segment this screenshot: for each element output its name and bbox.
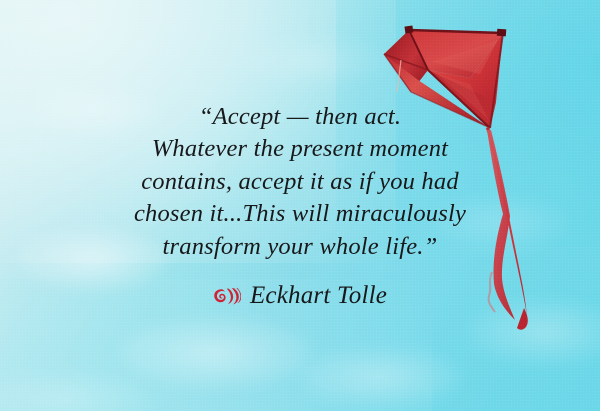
quote-line-1: “Accept — then act.	[0, 101, 600, 133]
quote-text-block: “Accept — then act. Whatever the present…	[0, 101, 600, 263]
author-name: Eckhart Tolle	[250, 281, 387, 311]
quote-line-2: Whatever the present moment	[0, 133, 600, 165]
quote-card: “Accept — then act. Whatever the present…	[0, 0, 600, 411]
quote-line-3: contains, accept it as if you had	[0, 166, 600, 198]
attribution: Eckhart Tolle	[0, 281, 600, 311]
red-swirl-ornament	[213, 286, 241, 306]
quote-line-5: transform your whole life.”	[0, 231, 600, 263]
quote-line-4: chosen it...This will miraculously	[0, 198, 600, 230]
